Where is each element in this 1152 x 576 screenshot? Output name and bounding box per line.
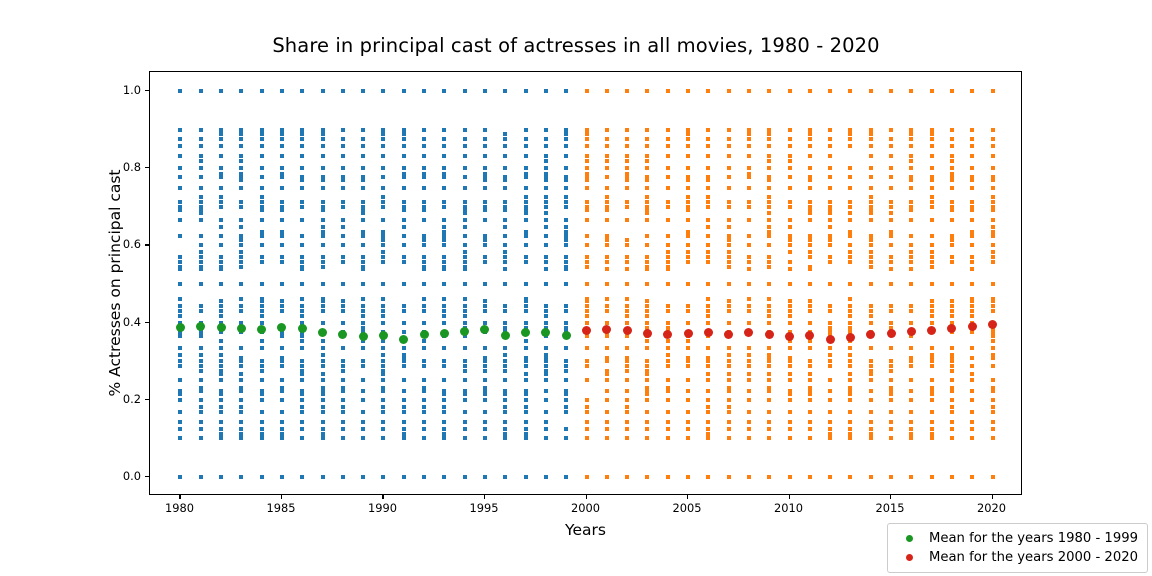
scatter-point [747, 144, 751, 148]
scatter-point [564, 359, 568, 363]
scatter-point [239, 420, 243, 424]
scatter-point [483, 321, 487, 325]
scatter-point [930, 353, 934, 357]
scatter-point [666, 265, 670, 269]
scatter-point [869, 436, 873, 440]
scatter-point [727, 282, 731, 286]
scatter-point [889, 436, 893, 440]
scatter-point [666, 282, 670, 286]
scatter-point [970, 260, 974, 264]
scatter-point [321, 339, 325, 343]
scatter-point [747, 205, 751, 209]
scatter-point [422, 398, 426, 402]
scatter-point [260, 218, 264, 222]
mean-marker [744, 328, 753, 337]
scatter-point [463, 265, 467, 269]
scatter-point [585, 436, 589, 440]
scatter-point [645, 359, 649, 363]
legend-marker-red [895, 554, 925, 561]
scatter-point [564, 364, 568, 368]
scatter-point [889, 260, 893, 264]
scatter-point [503, 250, 507, 254]
scatter-point [178, 175, 182, 179]
scatter-point [909, 436, 913, 440]
scatter-point [402, 436, 406, 440]
scatter-point [727, 436, 731, 440]
scatter-point [260, 427, 264, 431]
scatter-point [767, 230, 771, 234]
scatter-point [300, 314, 304, 318]
scatter-point [524, 378, 528, 382]
scatter-point [970, 255, 974, 259]
scatter-point [321, 218, 325, 222]
scatter-point [321, 175, 325, 179]
scatter-point [381, 218, 385, 222]
scatter-point [422, 243, 426, 247]
scatter-point [483, 89, 487, 93]
scatter-point [219, 132, 223, 136]
scatter-point [788, 205, 792, 209]
scatter-point [788, 299, 792, 303]
scatter-point [503, 89, 507, 93]
scatter-point [869, 321, 873, 325]
scatter-point [605, 234, 609, 238]
scatter-point [280, 378, 284, 382]
scatter-point [706, 432, 710, 436]
scatter-point [178, 234, 182, 238]
scatter-point [402, 364, 406, 368]
scatter-point [239, 178, 243, 182]
scatter-point [544, 195, 548, 199]
scatter-point [564, 321, 568, 325]
scatter-point [808, 346, 812, 350]
scatter-point [361, 346, 365, 350]
scatter-point [463, 225, 467, 229]
scatter-point [422, 346, 426, 350]
scatter-point [361, 304, 365, 308]
scatter-point [361, 309, 365, 313]
scatter-point [767, 200, 771, 204]
scatter-point [767, 154, 771, 158]
scatter-point [239, 427, 243, 431]
scatter-point [625, 297, 629, 301]
scatter-point [300, 128, 304, 132]
scatter-point [991, 154, 995, 158]
scatter-point [239, 128, 243, 132]
scatter-point [808, 243, 812, 247]
scatter-point [402, 128, 406, 132]
scatter-point [706, 321, 710, 325]
scatter-point [544, 436, 548, 440]
scatter-point [869, 166, 873, 170]
scatter-point [605, 346, 609, 350]
scatter-point [808, 321, 812, 325]
scatter-point [788, 89, 792, 93]
scatter-point [666, 420, 670, 424]
scatter-point [463, 427, 467, 431]
scatter-point [564, 178, 568, 182]
scatter-point [239, 260, 243, 264]
scatter-point [686, 234, 690, 238]
scatter-point [564, 309, 568, 313]
scatter-point [605, 304, 609, 308]
scatter-point [361, 186, 365, 190]
scatter-point [544, 218, 548, 222]
scatter-point [544, 267, 548, 271]
scatter-point [381, 304, 385, 308]
scatter-point [706, 154, 710, 158]
scatter-point [970, 175, 974, 179]
scatter-point [239, 432, 243, 436]
scatter-point [239, 225, 243, 229]
scatter-point [828, 353, 832, 357]
scatter-point [178, 346, 182, 350]
scatter-point [788, 225, 792, 229]
scatter-point [219, 436, 223, 440]
y-axis-tick [145, 90, 149, 91]
scatter-point [544, 389, 548, 393]
scatter-point [950, 436, 954, 440]
scatter-point [808, 410, 812, 414]
scatter-point [747, 166, 751, 170]
scatter-point [341, 205, 345, 209]
scatter-point [442, 359, 446, 363]
scatter-point [889, 410, 893, 414]
scatter-point [686, 389, 690, 393]
scatter-point [463, 475, 467, 479]
scatter-point [524, 432, 528, 436]
scatter-point [463, 398, 467, 402]
scatter-point [727, 389, 731, 393]
scatter-point [605, 427, 609, 431]
scatter-point [788, 128, 792, 132]
scatter-point [767, 410, 771, 414]
scatter-point [645, 265, 649, 269]
scatter-point [625, 154, 629, 158]
scatter-point [848, 218, 852, 222]
scatter-point [381, 186, 385, 190]
scatter-point [503, 364, 507, 368]
scatter-point [767, 398, 771, 402]
scatter-point [909, 410, 913, 414]
scatter-point [300, 475, 304, 479]
scatter-point [666, 128, 670, 132]
scatter-point [544, 353, 548, 357]
scatter-point [564, 175, 568, 179]
scatter-point [219, 218, 223, 222]
scatter-point [219, 475, 223, 479]
scatter-point [727, 218, 731, 222]
scatter-point [463, 346, 467, 350]
scatter-point [889, 89, 893, 93]
scatter-point [402, 186, 406, 190]
scatter-point [727, 420, 731, 424]
scatter-point [239, 475, 243, 479]
scatter-point [686, 175, 690, 179]
scatter-point [402, 427, 406, 431]
scatter-point [625, 389, 629, 393]
scatter-point [564, 132, 568, 136]
x-axis-tick-label: 1990 [368, 501, 397, 515]
scatter-point [178, 166, 182, 170]
scatter-point [889, 359, 893, 363]
scatter-point [199, 334, 203, 338]
scatter-point [930, 420, 934, 424]
scatter-point [381, 128, 385, 132]
scatter-point [341, 309, 345, 313]
scatter-point [625, 89, 629, 93]
scatter-point [767, 297, 771, 301]
scatter-point [909, 398, 913, 402]
scatter-point [747, 200, 751, 204]
scatter-point [341, 364, 345, 368]
scatter-point [199, 200, 203, 204]
scatter-point [239, 297, 243, 301]
scatter-point [585, 128, 589, 132]
scatter-point [869, 250, 873, 254]
scatter-point [524, 405, 528, 409]
scatter-point [381, 389, 385, 393]
scatter-point [788, 144, 792, 148]
scatter-point [178, 389, 182, 393]
scatter-point [483, 282, 487, 286]
scatter-point [219, 369, 223, 373]
scatter-point [909, 218, 913, 222]
scatter-point [483, 299, 487, 303]
scatter-point [767, 389, 771, 393]
scatter-point [442, 243, 446, 247]
scatter-point [564, 346, 568, 350]
scatter-point [321, 255, 325, 259]
mean-marker [501, 331, 510, 340]
scatter-point [422, 154, 426, 158]
legend-item[interactable]: Mean for the years 2000 - 2020 [895, 548, 1138, 567]
scatter-point [503, 321, 507, 325]
scatter-point [442, 282, 446, 286]
scatter-point [564, 195, 568, 199]
scatter-point [341, 378, 345, 382]
scatter-point [970, 230, 974, 234]
scatter-point [219, 339, 223, 343]
scatter-point [503, 178, 507, 182]
scatter-point [361, 321, 365, 325]
scatter-point [950, 186, 954, 190]
scatter-point [970, 137, 974, 141]
scatter-point [625, 334, 629, 338]
scatter-point [260, 378, 264, 382]
scatter-point [625, 200, 629, 204]
scatter-point [361, 144, 365, 148]
scatter-point [828, 243, 832, 247]
scatter-point [666, 339, 670, 343]
scatter-point [239, 186, 243, 190]
scatter-point [524, 389, 528, 393]
scatter-point [889, 211, 893, 215]
scatter-point [463, 309, 467, 313]
scatter-point [442, 238, 446, 242]
scatter-point [666, 255, 670, 259]
scatter-point [970, 398, 974, 402]
scatter-point [605, 89, 609, 93]
scatter-point [544, 200, 548, 204]
scatter-point [442, 137, 446, 141]
mean-marker [765, 330, 774, 339]
scatter-point [503, 255, 507, 259]
scatter-point [463, 297, 467, 301]
scatter-point [280, 205, 284, 209]
scatter-point [991, 378, 995, 382]
scatter-point [402, 420, 406, 424]
scatter-point [645, 159, 649, 163]
scatter-point [930, 144, 934, 148]
scatter-point [727, 321, 731, 325]
scatter-point [625, 282, 629, 286]
scatter-point [178, 410, 182, 414]
scatter-point [605, 297, 609, 301]
scatter-point [645, 410, 649, 414]
scatter-point [645, 234, 649, 238]
scatter-point [402, 410, 406, 414]
scatter-point [686, 309, 690, 313]
scatter-point [483, 238, 487, 242]
scatter-point [686, 137, 690, 141]
scatter-point [686, 475, 690, 479]
scatter-point [930, 436, 934, 440]
scatter-point [341, 178, 345, 182]
scatter-point [625, 356, 629, 360]
scatter-point [788, 364, 792, 368]
scatter-point [219, 186, 223, 190]
scatter-point [422, 321, 426, 325]
scatter-point [666, 346, 670, 350]
scatter-point [706, 282, 710, 286]
scatter-point [381, 230, 385, 234]
scatter-point [300, 137, 304, 141]
scatter-point [666, 234, 670, 238]
scatter-point [199, 265, 203, 269]
scatter-point [402, 398, 406, 402]
scatter-point [239, 265, 243, 269]
scatter-point [706, 309, 710, 313]
scatter-point [747, 154, 751, 158]
scatter-point [909, 200, 913, 204]
scatter-point [991, 297, 995, 301]
scatter-point [321, 346, 325, 350]
scatter-point [341, 166, 345, 170]
scatter-point [300, 427, 304, 431]
scatter-point [869, 238, 873, 242]
scatter-point [463, 304, 467, 308]
scatter-point [199, 346, 203, 350]
scatter-point [178, 398, 182, 402]
scatter-point [686, 427, 690, 431]
legend-label: Mean for the years 2000 - 2020 [929, 550, 1138, 565]
scatter-point [321, 364, 325, 368]
scatter-point [889, 321, 893, 325]
scatter-point [848, 326, 852, 330]
mean-marker [947, 324, 956, 333]
scatter-point [219, 309, 223, 313]
scatter-point [706, 195, 710, 199]
scatter-point [585, 398, 589, 402]
scatter-point [605, 205, 609, 209]
scatter-point [564, 304, 568, 308]
scatter-point [300, 243, 304, 247]
scatter-point [341, 260, 345, 264]
scatter-point [321, 144, 325, 148]
scatter-point [605, 144, 609, 148]
scatter-point [321, 405, 325, 409]
scatter-point [300, 297, 304, 301]
scatter-point [848, 132, 852, 136]
scatter-point [178, 427, 182, 431]
scatter-point [402, 218, 406, 222]
scatter-point [970, 314, 974, 318]
scatter-point [605, 309, 609, 313]
scatter-point [300, 304, 304, 308]
scatter-point [219, 304, 223, 308]
scatter-point [828, 321, 832, 325]
scatter-point [706, 234, 710, 238]
scatter-point [402, 225, 406, 229]
scatter-point [442, 128, 446, 132]
scatter-point [625, 128, 629, 132]
scatter-point [869, 364, 873, 368]
scatter-point [178, 205, 182, 209]
scatter-point [321, 186, 325, 190]
scatter-point [970, 186, 974, 190]
legend-item[interactable]: Mean for the years 1980 - 1999 [895, 529, 1138, 548]
scatter-point [524, 398, 528, 402]
scatter-point [950, 154, 954, 158]
scatter-point [645, 314, 649, 318]
scatter-point [544, 186, 548, 190]
scatter-point [869, 410, 873, 414]
scatter-point [361, 364, 365, 368]
scatter-point [321, 282, 325, 286]
scatter-point [361, 175, 365, 179]
scatter-point [625, 427, 629, 431]
scatter-point [544, 166, 548, 170]
scatter-point [686, 250, 690, 254]
scatter-point [341, 299, 345, 303]
scatter-point [625, 475, 629, 479]
y-axis-tick-label: 0.2 [123, 392, 141, 406]
scatter-point [828, 175, 832, 179]
scatter-point [178, 218, 182, 222]
scatter-point [970, 410, 974, 414]
scatter-point [442, 297, 446, 301]
scatter-point [300, 144, 304, 148]
scatter-point [178, 304, 182, 308]
scatter-point [686, 339, 690, 343]
scatter-point [341, 359, 345, 363]
scatter-point [422, 260, 426, 264]
scatter-point [788, 218, 792, 222]
scatter-point [930, 137, 934, 141]
scatter-point [280, 364, 284, 368]
legend-marker-green [895, 535, 925, 542]
scatter-point [909, 175, 913, 179]
scatter-point [767, 132, 771, 136]
scatter-point [767, 175, 771, 179]
scatter-point [341, 175, 345, 179]
scatter-point [686, 218, 690, 222]
scatter-point [930, 255, 934, 259]
scatter-point [605, 282, 609, 286]
scatter-point [341, 410, 345, 414]
scatter-point [747, 475, 751, 479]
